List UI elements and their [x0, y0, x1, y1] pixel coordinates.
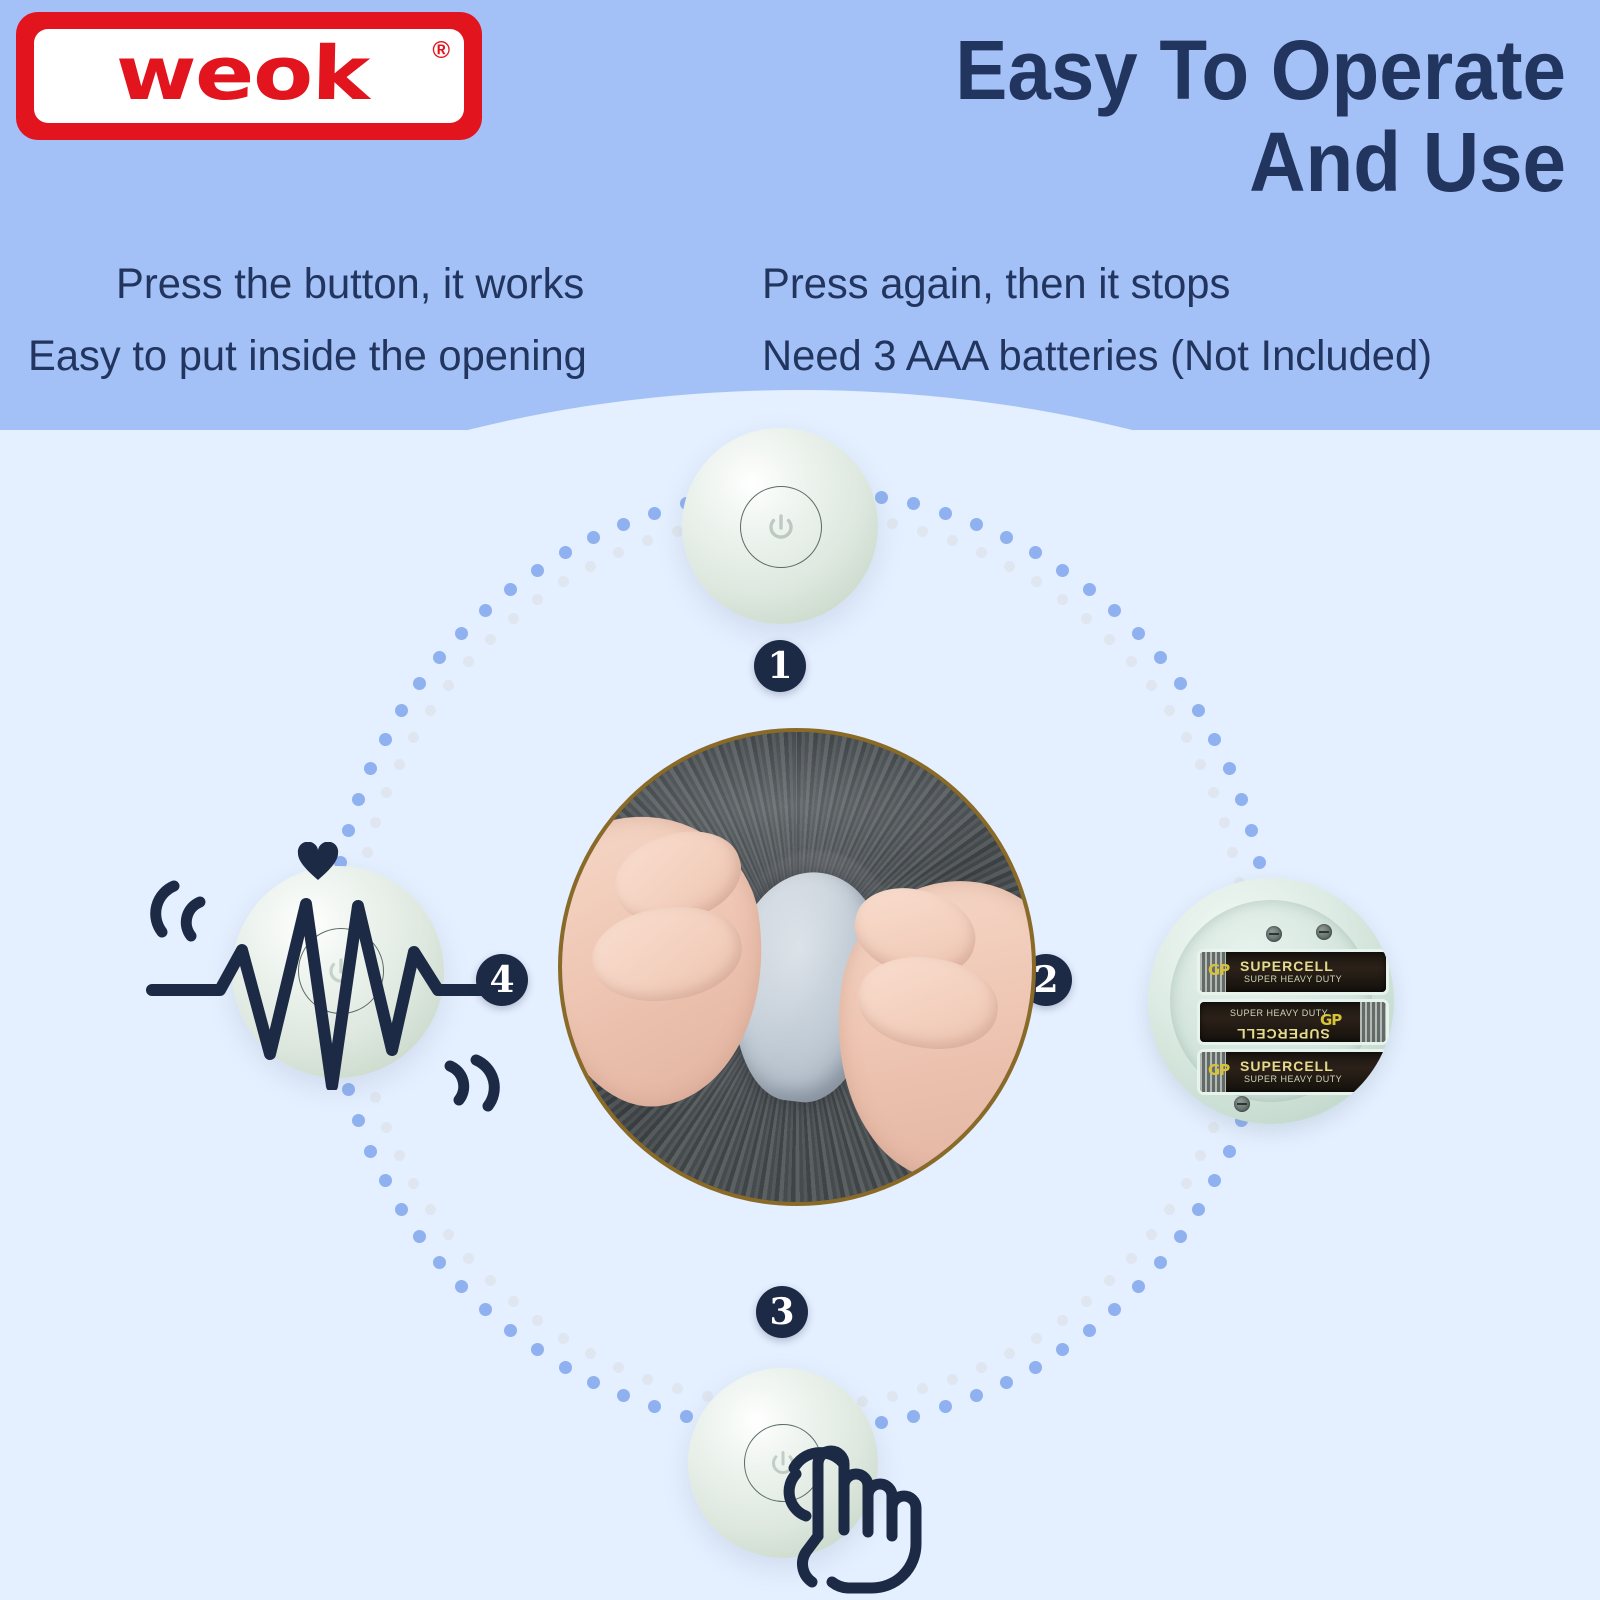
orbit-dot [485, 634, 496, 645]
orbit-dot [970, 518, 983, 531]
orbit-dot [504, 1324, 517, 1337]
orbit-dot [1029, 546, 1042, 559]
orbit-dot [917, 1383, 928, 1394]
orbit-dot [672, 526, 683, 537]
orbit-dot [379, 1174, 392, 1187]
feature-easy-insert: Easy to put inside the opening [28, 330, 587, 382]
orbit-dot [1004, 561, 1015, 572]
battery-brand-label: GP [1208, 961, 1229, 979]
orbit-dot [370, 817, 381, 828]
orbit-dot [395, 1203, 408, 1216]
orbit-dot [1126, 1253, 1137, 1264]
battery-spring-icon [1360, 1002, 1386, 1042]
orbit-dot [558, 576, 569, 587]
page-title-line-2: And Use [599, 116, 1566, 208]
orbit-dot [558, 1333, 569, 1344]
orbit-dot [976, 1362, 987, 1373]
orbit-dot [413, 1230, 426, 1243]
orbit-dot [1083, 1324, 1096, 1337]
orbit-dot [680, 1410, 693, 1423]
orbit-dot [642, 535, 653, 546]
orbit-dot [887, 518, 898, 529]
orbit-dot [1031, 576, 1042, 587]
step-badge-4: 4 [476, 954, 528, 1006]
orbit-dot [352, 793, 365, 806]
orbit-dot [352, 1114, 365, 1127]
battery-type-label: SUPER HEAVY DUTY [1244, 1074, 1342, 1084]
orbit-dot [1154, 1256, 1167, 1269]
screw-icon [1316, 924, 1332, 940]
orbit-dot [1208, 1174, 1221, 1187]
orbit-dot [1057, 594, 1068, 605]
orbit-dot [455, 1280, 468, 1293]
brand-logo-inner: weok ® [34, 29, 464, 123]
orbit-dot [1083, 583, 1096, 596]
vibration-arc-icon-right [434, 1050, 502, 1126]
orbit-dot [1126, 656, 1137, 667]
orbit-dot [1195, 759, 1206, 770]
orbit-dot [1146, 1229, 1157, 1240]
orbit-dot [531, 564, 544, 577]
orbit-dot [1223, 1145, 1236, 1158]
orbit-dot [1227, 847, 1238, 858]
orbit-dot [585, 1348, 596, 1359]
orbit-dot [1174, 677, 1187, 690]
orbit-dot [648, 507, 661, 520]
orbit-dot [1181, 732, 1192, 743]
brand-logo-text: weok [115, 37, 370, 111]
battery-series-label: SUPERCELL [1240, 958, 1334, 974]
orbit-dot [531, 1343, 544, 1356]
infographic-canvas: weok ® Easy To Operate And Use Press the… [0, 0, 1600, 1600]
orbit-dot [532, 594, 543, 605]
orbit-dot [617, 1389, 630, 1402]
device-ball-step-1 [682, 428, 878, 624]
insert-device-into-plush-photo [558, 728, 1036, 1206]
step-badge-1: 1 [754, 640, 806, 692]
orbit-dot [1104, 634, 1115, 645]
orbit-dot [1219, 817, 1230, 828]
orbit-dot [364, 1145, 377, 1158]
orbit-dot [508, 613, 519, 624]
orbit-dot [1081, 613, 1092, 624]
orbit-dot [1108, 604, 1121, 617]
orbit-dot [1174, 1230, 1187, 1243]
orbit-dot [587, 1376, 600, 1389]
orbit-dot [1253, 856, 1266, 869]
orbit-dot [970, 1389, 983, 1402]
orbit-dot [433, 651, 446, 664]
orbit-dot [408, 1178, 419, 1189]
orbit-dot [508, 1296, 519, 1307]
registered-trademark-icon: ® [432, 37, 450, 65]
brand-logo: weok ® [16, 12, 482, 140]
orbit-dot [642, 1374, 653, 1385]
orbit-dot [1164, 705, 1175, 716]
battery-type-label: SUPER HEAVY DUTY [1244, 974, 1342, 984]
orbit-dot [887, 1391, 898, 1402]
power-button-icon[interactable] [740, 486, 822, 568]
orbit-dot [559, 546, 572, 559]
orbit-dot [425, 1204, 436, 1215]
vibration-arc-icon-left [148, 876, 216, 952]
orbit-dot [364, 762, 377, 775]
page-title-line-1: Easy To Operate [599, 24, 1566, 116]
battery-cell: GP SUPERCELL SUPER HEAVY DUTY [1200, 1052, 1386, 1092]
orbit-dot [917, 526, 928, 537]
orbit-dot [875, 491, 888, 504]
orbit-dot [1132, 1280, 1145, 1293]
orbit-dot [587, 531, 600, 544]
orbit-dot [433, 1256, 446, 1269]
screw-icon [1266, 926, 1282, 942]
orbit-dot [585, 561, 596, 572]
orbit-dot [381, 1122, 392, 1133]
orbit-dot [1192, 1203, 1205, 1216]
heart-icon [296, 842, 340, 882]
battery-cell: GP SUPERCELL SUPER HEAVY DUTY [1200, 1002, 1386, 1042]
orbit-dot [613, 1362, 624, 1373]
orbit-dot [408, 732, 419, 743]
battery-series-label: SUPERCELL [1240, 1058, 1334, 1074]
orbit-dot [1195, 1150, 1206, 1161]
orbit-dot [342, 824, 355, 837]
orbit-dot [907, 497, 920, 510]
page-title: Easy To Operate And Use [599, 24, 1566, 208]
orbit-dot [425, 705, 436, 716]
orbit-dot [394, 1150, 405, 1161]
orbit-dot [672, 1383, 683, 1394]
orbit-dot [455, 627, 468, 640]
header-curve-divider [0, 390, 1600, 430]
battery-series-label: SUPERCELL [1236, 1026, 1330, 1042]
orbit-dot [976, 547, 987, 558]
orbit-dot [379, 733, 392, 746]
orbit-dot [394, 759, 405, 770]
orbit-dot [1223, 762, 1236, 775]
orbit-dot [1004, 1348, 1015, 1359]
orbit-dot [1132, 627, 1145, 640]
feature-press-works: Press the button, it works [116, 258, 584, 310]
step-badge-3: 3 [756, 1286, 808, 1338]
orbit-dot [947, 535, 958, 546]
battery-compartment-inner: GP SUPERCELL SUPER HEAVY DUTY GP SUPERCE… [1170, 900, 1372, 1102]
orbit-dot [1056, 1343, 1069, 1356]
orbit-dot [443, 1229, 454, 1240]
orbit-dot [1192, 704, 1205, 717]
orbit-dot [463, 1253, 474, 1264]
orbit-dot [1056, 564, 1069, 577]
orbit-dot [485, 1275, 496, 1286]
orbit-dot [613, 547, 624, 558]
orbit-dot [532, 1315, 543, 1326]
orbit-dot [1245, 824, 1258, 837]
orbit-dot [1154, 651, 1167, 664]
orbit-dot [479, 604, 492, 617]
orbit-dot [1181, 1178, 1192, 1189]
orbit-dot [381, 787, 392, 798]
battery-brand-label: GP [1208, 1061, 1229, 1079]
feature-batteries: Need 3 AAA batteries (Not Included) [762, 330, 1432, 382]
orbit-dot [1000, 1376, 1013, 1389]
orbit-dot [413, 677, 426, 690]
orbit-dot [648, 1400, 661, 1413]
orbit-dot [1057, 1315, 1068, 1326]
battery-type-label: SUPER HEAVY DUTY [1230, 1008, 1328, 1018]
orbit-dot [1146, 680, 1157, 691]
orbit-dot [1000, 531, 1013, 544]
orbit-dot [463, 656, 474, 667]
orbit-dot [362, 847, 373, 858]
orbit-dot [1235, 793, 1248, 806]
screw-icon [1234, 1096, 1250, 1112]
orbit-dot [1108, 1303, 1121, 1316]
orbit-dot [617, 518, 630, 531]
feature-press-stops: Press again, then it stops [762, 258, 1230, 310]
battery-compartment: GP SUPERCELL SUPER HEAVY DUTY GP SUPERCE… [1148, 878, 1394, 1124]
orbit-dot [1164, 1204, 1175, 1215]
orbit-dot [479, 1303, 492, 1316]
orbit-dot [939, 507, 952, 520]
orbit-dot [947, 1374, 958, 1385]
orbit-dot [504, 583, 517, 596]
orbit-dot [443, 680, 454, 691]
orbit-dot [1208, 1122, 1219, 1133]
orbit-dot [1104, 1275, 1115, 1286]
orbit-dot [1081, 1296, 1092, 1307]
orbit-dot [395, 704, 408, 717]
orbit-dot [559, 1361, 572, 1374]
orbit-dot [1031, 1333, 1042, 1344]
pointing-hand-icon [762, 1412, 942, 1600]
battery-cell: GP SUPERCELL SUPER HEAVY DUTY [1200, 952, 1386, 992]
orbit-dot [1029, 1361, 1042, 1374]
orbit-dot [1208, 787, 1219, 798]
orbit-dot [370, 1092, 381, 1103]
orbit-dot [1208, 733, 1221, 746]
